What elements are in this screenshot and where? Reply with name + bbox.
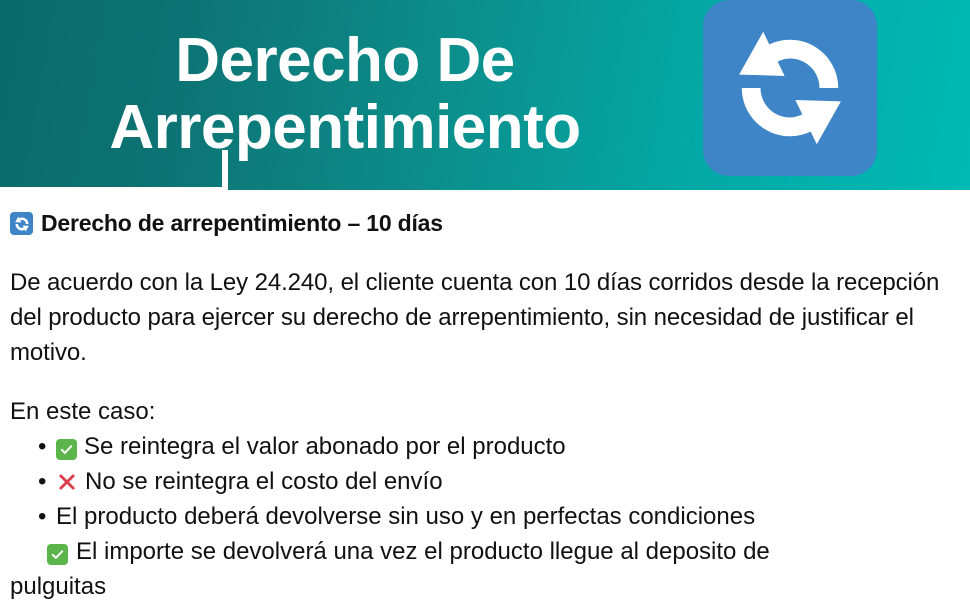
trailing-note: El importe se devolverá una vez el produ… xyxy=(0,534,970,569)
bullet-dot-icon: • xyxy=(38,429,54,464)
policy-paragraph: De acuerdo con la Ley 24.240, el cliente… xyxy=(0,259,970,370)
check-mark-icon xyxy=(56,439,77,460)
section-heading: Derecho de arrepentimiento – 10 días xyxy=(0,190,970,235)
list-item: • No se reintegra el costo del envío xyxy=(10,464,962,499)
policy-intro: En este caso: xyxy=(0,394,970,429)
bullet-dot-icon: • xyxy=(38,499,54,534)
list-item: • El producto deberá devolverse sin uso … xyxy=(10,499,962,534)
banner-title: Derecho De Arrepentimiento xyxy=(0,0,690,190)
banner-title-line-1: Derecho De xyxy=(175,28,515,95)
list-item-label: El producto deberá devolverse sin uso y … xyxy=(56,499,755,534)
cross-mark-icon xyxy=(56,471,78,493)
check-mark-icon xyxy=(47,544,68,565)
banner-title-line-2: Arrepentimiento xyxy=(109,95,580,162)
policy-bullet-list: • Se reintegra el valor abonado por el p… xyxy=(0,429,970,534)
trailing-note-wrap: pulguitas xyxy=(0,569,970,604)
section-heading-text: Derecho de arrepentimiento – 10 días xyxy=(41,212,443,235)
bullet-dot-icon: • xyxy=(38,464,54,499)
list-item: • Se reintegra el valor abonado por el p… xyxy=(10,429,962,464)
trailing-note-label: El importe se devolverá una vez el produ… xyxy=(76,534,770,569)
list-item-label: Se reintegra el valor abonado por el pro… xyxy=(84,429,566,464)
page-banner: Derecho De Arrepentimiento xyxy=(0,0,970,190)
refresh-arrows-icon xyxy=(703,0,877,176)
refresh-arrows-icon xyxy=(10,212,33,235)
content-body: Derecho de arrepentimiento – 10 días De … xyxy=(0,190,970,604)
banner-descender-gap xyxy=(222,150,228,190)
list-item-label: No se reintegra el costo del envío xyxy=(85,464,443,499)
